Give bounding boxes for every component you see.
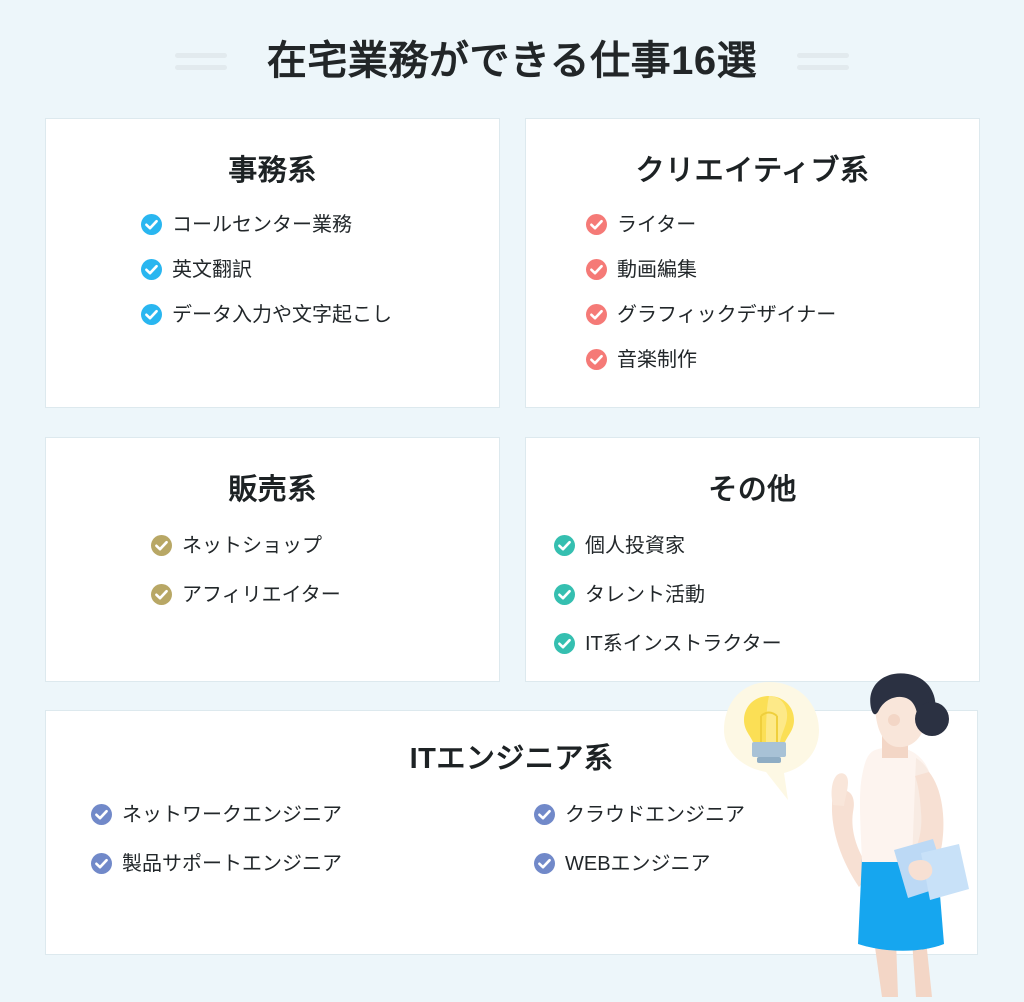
job-label: 動画編集 [617,260,697,280]
title-decoration-left-icon [175,53,227,70]
category-card-others: その他 個人投資家 タレント活動 IT系インストラクター [525,437,980,682]
job-list: 個人投資家 タレント活動 IT系インストラクター [526,509,979,682]
job-label: グラフィックデザイナー [617,305,836,325]
category-heading: 販売系 [46,438,499,509]
job-list: ネットワークエンジニア クラウドエンジニア 製品サポートエンジニア WEBエンジ… [46,778,977,902]
check-circle-icon [554,633,575,654]
category-heading-highlight: 事務系 [226,157,319,190]
job-label: 英文翻訳 [172,260,252,280]
job-item[interactable]: データ入力や文字起こし [141,304,499,325]
check-circle-icon [151,584,172,605]
check-circle-icon [151,535,172,556]
page-title: 在宅業務ができる仕事16選 [267,41,757,81]
job-item[interactable]: ネットワークエンジニア [91,804,534,825]
check-circle-icon [534,853,555,874]
job-item[interactable]: 動画編集 [586,259,790,280]
job-label: アフィリエイター [182,585,341,605]
check-circle-icon [141,214,162,235]
job-label: コールセンター業務 [172,215,352,235]
category-card-clerical: 事務系 コールセンター業務 英文翻訳 データ入力や文字起こし [45,118,500,408]
job-item[interactable]: アフィリエイター [151,584,499,605]
job-list: ライター 動画編集 グラフィックデザイナー 音楽制作 [526,190,979,394]
job-item[interactable]: IT系インストラクター [554,633,979,654]
job-item[interactable]: タレント活動 [554,584,779,605]
category-heading: ITエンジニア系 [46,711,977,778]
job-item[interactable]: ライター [586,214,790,235]
job-label: ネットワークエンジニア [122,805,342,825]
title-decoration-right-icon [797,53,849,70]
job-list: コールセンター業務 英文翻訳 データ入力や文字起こし [46,190,499,349]
job-label: データ入力や文字起こし [172,305,392,325]
page-header: 在宅業務ができる仕事16選 [0,30,1024,92]
category-heading-highlight: 販売系 [226,476,319,509]
job-label: IT系インストラクター [585,634,782,654]
job-item[interactable]: WEBエンジニア [534,853,977,874]
job-item[interactable]: コールセンター業務 [141,214,499,235]
check-circle-icon [141,304,162,325]
category-heading: 事務系 [46,119,499,190]
job-item[interactable]: 製品サポートエンジニア [91,853,534,874]
job-item[interactable]: 個人投資家 [554,535,779,556]
check-circle-icon [586,304,607,325]
job-list: ネットショップ アフィリエイター [46,509,499,633]
check-circle-icon [91,853,112,874]
check-circle-icon [554,535,575,556]
category-heading-highlight: ITエンジニア系 [408,745,616,778]
job-label: WEBエンジニア [565,854,711,874]
job-label: タレント活動 [585,585,705,605]
job-label: 製品サポートエンジニア [122,854,342,874]
category-heading: クリエイティブ系 [526,119,979,190]
job-item[interactable]: 音楽制作 [586,349,979,370]
job-item[interactable]: ネットショップ [151,535,499,556]
check-circle-icon [534,804,555,825]
job-label: ネットショップ [182,536,322,556]
category-card-sales: 販売系 ネットショップ アフィリエイター [45,437,500,682]
job-label: クラウドエンジニア [565,805,745,825]
job-label: 個人投資家 [585,536,685,556]
check-circle-icon [91,804,112,825]
job-item[interactable]: グラフィックデザイナー [586,304,979,325]
job-label: ライター [617,215,696,235]
job-item[interactable]: 英文翻訳 [141,259,499,280]
check-circle-icon [141,259,162,280]
category-heading-highlight: その他 [706,476,799,509]
check-circle-icon [586,214,607,235]
check-circle-icon [554,584,575,605]
category-heading: その他 [526,438,979,509]
check-circle-icon [586,349,607,370]
category-card-it-engineer: ITエンジニア系 ネットワークエンジニア クラウドエンジニア 製品サポートエンジ… [45,710,978,955]
job-label: 音楽制作 [617,350,697,370]
category-heading-highlight: クリエイティブ系 [634,157,872,190]
job-item[interactable]: クラウドエンジニア [534,804,977,825]
check-circle-icon [586,259,607,280]
category-card-creative: クリエイティブ系 ライター 動画編集 グラフィックデザイナー 音楽制作 [525,118,980,408]
